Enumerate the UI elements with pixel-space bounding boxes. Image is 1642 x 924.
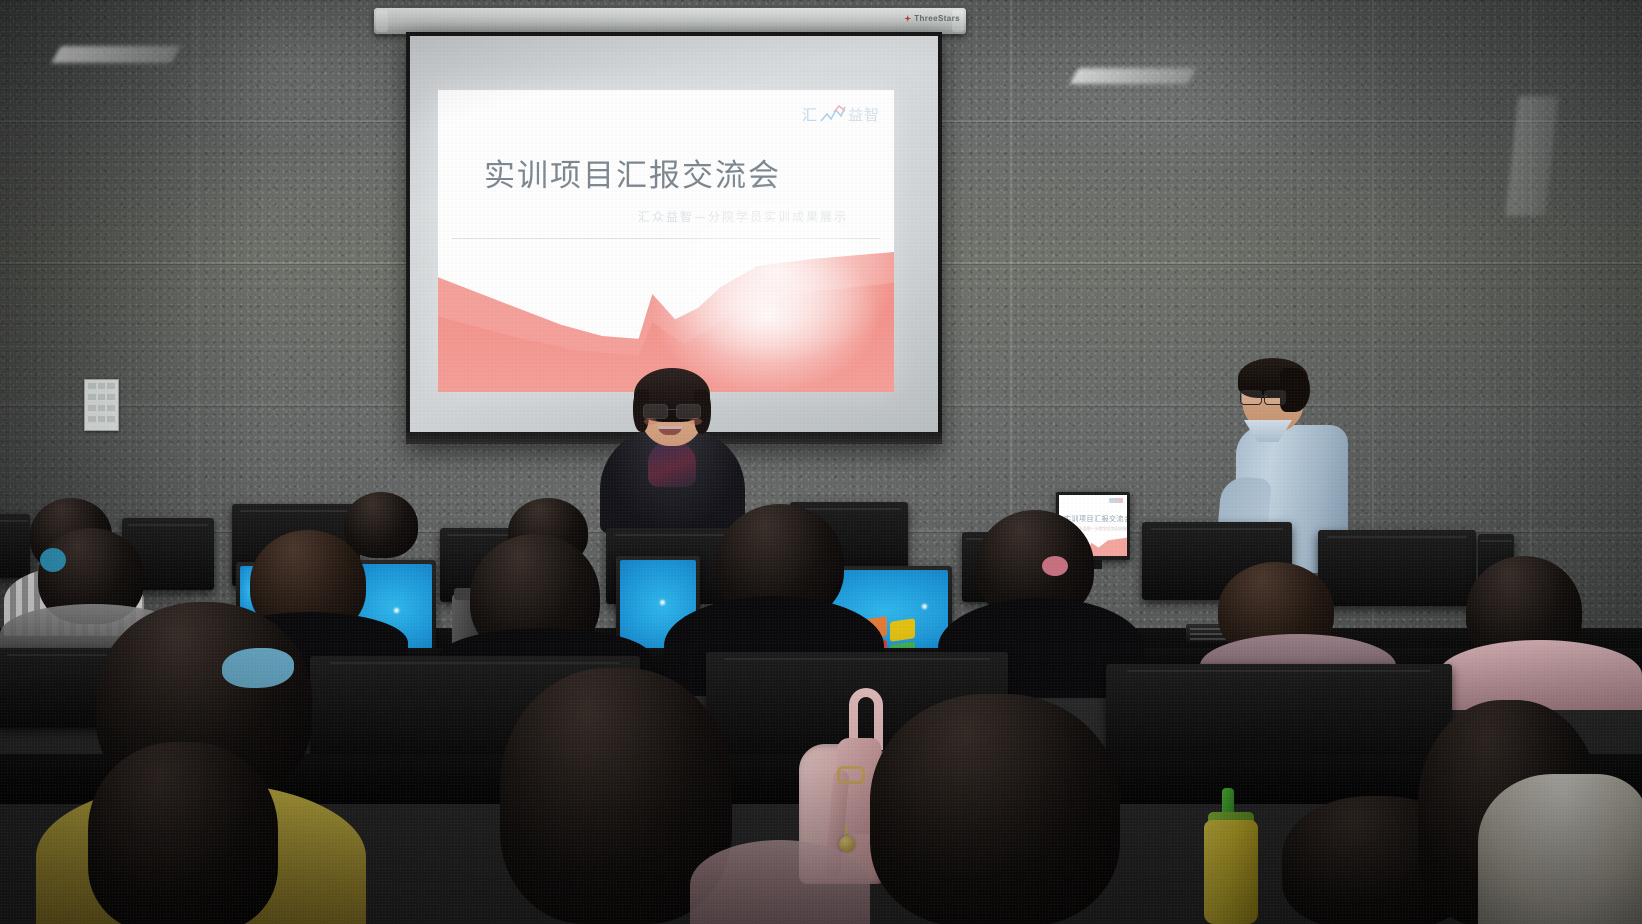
case-end-cap [376,10,388,32]
projector-screen-case: ThreeStars [374,8,966,34]
presenter-scarf [648,441,696,487]
presenter-cheek [689,418,702,425]
yellow-water-bottle [1204,788,1258,924]
audience-shoulders-foreground [690,840,870,924]
projected-slide: 汇 益智 实训项目汇报交流会 汇众益智—分院学员实训成果展示 [438,90,894,392]
audience-shoulders [1438,640,1642,710]
preview-slide-subtitle: 汇众益智—分院学员实训成果展示 [1075,526,1127,532]
classroom-photo: ThreeStars 汇 益智 实训项目汇报交流会 汇众益智—分院学员实训成果展… [0,0,1642,924]
ceiling-light-reflection [1070,68,1197,84]
wall-control-panel[interactable] [84,379,119,431]
wallpaper-sparkle-icon [922,604,927,609]
presenter [600,368,745,533]
wallpaper-sparkle-icon [660,600,665,605]
slide-logo: 汇 益智 [802,104,880,125]
slide-divider [452,238,880,239]
slide-logo-text-right: 益智 [848,104,880,125]
slide-title: 实训项目汇报交流会 [484,150,781,195]
presenter-cheek [644,418,657,425]
hair-tie [1042,556,1068,576]
wallpaper-sparkle-icon [394,608,399,613]
slide-logo-text-left: 汇 [802,104,818,125]
earphone-icon [40,548,66,572]
bottle-body [1204,820,1258,924]
audience-hair-foreground [88,742,278,924]
monitor-back [1318,530,1476,606]
chart-peak-icon [820,105,846,125]
eyeglasses-icon [643,404,701,417]
audience-head-foreground [870,694,1120,924]
monitor-back [0,514,30,578]
threestars-logo-icon [904,15,911,22]
eyeglasses-icon [1240,390,1286,404]
backpack-ring-icon [837,766,865,784]
backpack-charm-icon [839,836,855,852]
screen-brand-label: ThreeStars [904,14,960,23]
slide-subtitle: 汇众益智—分院学员实训成果展示 [638,208,848,225]
preview-slide-logo [1109,498,1123,503]
fur-collar [1478,774,1642,924]
audience-head [344,492,418,558]
hair-clip-icon [222,648,294,688]
ceiling-light-reflection [51,46,180,63]
